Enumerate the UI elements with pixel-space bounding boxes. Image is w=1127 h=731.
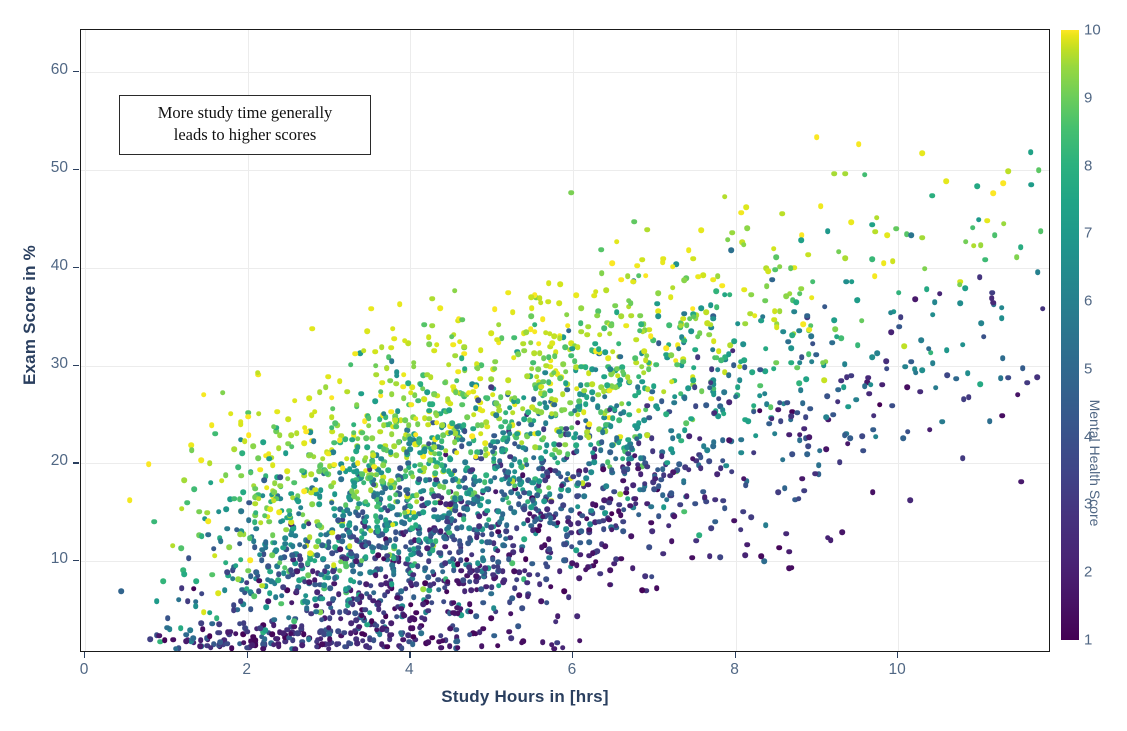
- scatter-point: [558, 493, 564, 499]
- scatter-point: [762, 391, 768, 397]
- scatter-point: [231, 446, 237, 452]
- scatter-point: [483, 420, 489, 426]
- scatter-point: [780, 457, 786, 463]
- scatter-point: [542, 392, 548, 398]
- scatter-point: [764, 283, 770, 289]
- scatter-point: [600, 429, 606, 435]
- scatter-point: [276, 509, 282, 515]
- scatter-point: [976, 217, 982, 223]
- scatter-point: [563, 442, 569, 448]
- scatter-point: [330, 550, 336, 556]
- scatter-point: [871, 427, 877, 433]
- scatter-point: [677, 502, 683, 508]
- scatter-point: [233, 563, 239, 569]
- scatter-point: [500, 512, 506, 518]
- scatter-point: [301, 440, 307, 446]
- scatter-point: [246, 432, 252, 438]
- scatter-point: [720, 498, 726, 504]
- scatter-point: [957, 300, 963, 306]
- scatter-point: [446, 362, 452, 368]
- scatter-point: [797, 437, 803, 443]
- scatter-point: [461, 505, 467, 511]
- scatter-point: [671, 514, 677, 520]
- scatter-point: [772, 431, 778, 437]
- scatter-point: [389, 581, 395, 587]
- scatter-point: [468, 609, 474, 615]
- scatter-point: [475, 498, 481, 504]
- scatter-point: [805, 452, 811, 458]
- scatter-point: [309, 412, 315, 418]
- scatter-point: [608, 423, 614, 429]
- scatter-point: [770, 277, 776, 283]
- scatter-point: [330, 406, 336, 412]
- scatter-point: [260, 646, 266, 652]
- scatter-point: [805, 444, 811, 450]
- scatter-point: [289, 600, 295, 606]
- scatter-point: [489, 377, 495, 383]
- scatter-point: [771, 366, 777, 372]
- scatter-point: [329, 414, 335, 420]
- scatter-point: [492, 633, 498, 639]
- scatter-point: [380, 619, 386, 625]
- scatter-point: [315, 589, 321, 595]
- scatter-point: [336, 591, 342, 597]
- scatter-point: [439, 422, 445, 428]
- scatter-point: [609, 527, 615, 533]
- scatter-point: [408, 602, 414, 608]
- scatter-point: [388, 620, 394, 626]
- scatter-point: [741, 242, 747, 248]
- scatter-point: [189, 447, 195, 453]
- scatter-point: [326, 575, 332, 581]
- scatter-point: [475, 560, 481, 566]
- scatter-point: [401, 612, 407, 618]
- scatter-point: [344, 389, 350, 395]
- scatter-point: [406, 422, 412, 428]
- scatter-point: [173, 646, 179, 652]
- scatter-point: [524, 462, 530, 468]
- scatter-point: [631, 219, 637, 225]
- scatter-point: [468, 449, 474, 455]
- scatter-point: [656, 341, 662, 347]
- scatter-point: [676, 462, 682, 468]
- scatter-point: [609, 371, 615, 377]
- scatter-point: [442, 544, 448, 550]
- scatter-point: [397, 485, 403, 491]
- scatter-point: [467, 569, 473, 575]
- scatter-point: [253, 510, 259, 516]
- scatter-point: [569, 190, 575, 196]
- scatter-point: [757, 383, 763, 389]
- scatter-point: [440, 638, 446, 644]
- scatter-point: [636, 273, 642, 279]
- scatter-point: [546, 380, 552, 386]
- scatter-point: [540, 316, 546, 322]
- scatter-point: [774, 324, 780, 330]
- scatter-point: [240, 451, 246, 457]
- scatter-point: [332, 420, 338, 426]
- scatter-point: [508, 636, 514, 642]
- scatter-point: [516, 593, 522, 599]
- scatter-point: [354, 558, 360, 564]
- scatter-point: [347, 511, 353, 517]
- scatter-point: [794, 410, 800, 416]
- scatter-point: [354, 489, 360, 495]
- scatter-point: [575, 504, 581, 510]
- scatter-point: [424, 546, 430, 552]
- scatter-point: [553, 619, 559, 625]
- scatter-point: [525, 593, 531, 599]
- scatter-point: [350, 534, 356, 540]
- scatter-point: [446, 511, 452, 517]
- scatter-point: [396, 477, 402, 483]
- x-tick-mark: [735, 652, 736, 658]
- scatter-point: [291, 624, 297, 630]
- scatter-point: [411, 514, 417, 520]
- scatter-point: [170, 543, 176, 549]
- scatter-point: [695, 274, 701, 280]
- scatter-point: [313, 487, 319, 493]
- scatter-point: [500, 437, 506, 443]
- y-tick-mark: [73, 169, 79, 170]
- scatter-point: [726, 372, 732, 378]
- scatter-point: [344, 556, 350, 562]
- scatter-point: [699, 388, 705, 394]
- scatter-point: [780, 329, 786, 335]
- scatter-point: [181, 478, 187, 484]
- colorbar[interactable]: 12345678910 Mental Health Score: [1061, 30, 1127, 642]
- scatter-point: [527, 490, 533, 496]
- scatter-point: [409, 563, 415, 569]
- scatter-point: [477, 630, 483, 636]
- scatter-point: [449, 334, 455, 340]
- scatter-point: [231, 608, 237, 614]
- scatter-point: [447, 456, 453, 462]
- scatter-point: [428, 374, 434, 380]
- scatter-point: [467, 535, 473, 541]
- scatter-point: [720, 438, 726, 444]
- scatter-point: [687, 316, 693, 322]
- scatter-point: [409, 525, 415, 531]
- scatter-point: [409, 402, 415, 408]
- scatter-point: [267, 506, 273, 512]
- scatter-point: [319, 572, 325, 578]
- scatter-point: [981, 334, 987, 340]
- scatter-point: [566, 595, 572, 601]
- scatter-point: [321, 582, 327, 588]
- scatter-point: [307, 396, 313, 402]
- scatter-point: [714, 289, 720, 295]
- scatter-point: [528, 295, 534, 301]
- scatter-point: [656, 314, 662, 320]
- scatter-point: [831, 412, 837, 418]
- scatter-point: [205, 518, 211, 524]
- scatter-point: [837, 459, 843, 465]
- scatter-point: [535, 572, 541, 578]
- scatter-point: [505, 290, 511, 296]
- scatter-point: [529, 561, 535, 567]
- scatter-point: [711, 339, 717, 345]
- scatter-point: [589, 508, 595, 514]
- scatter-point: [982, 257, 988, 263]
- scatter-point: [591, 293, 597, 299]
- scatter-point: [545, 564, 551, 570]
- scatter-point: [245, 629, 251, 635]
- scatter-point: [720, 458, 726, 464]
- scatter-point: [389, 632, 395, 638]
- scatter-point: [596, 346, 602, 352]
- scatter-point: [452, 353, 458, 359]
- scatter-point: [434, 342, 440, 348]
- scatter-point: [607, 331, 613, 337]
- scatter-point: [580, 513, 586, 519]
- scatter-point: [741, 357, 747, 363]
- scatter-point: [193, 604, 199, 610]
- scatter-point: [359, 613, 365, 619]
- scatter-point: [330, 609, 336, 615]
- scatter-point: [716, 348, 722, 354]
- scatter-point: [316, 539, 322, 545]
- scatter-point: [238, 599, 244, 605]
- scatter-point: [565, 431, 571, 437]
- scatter-point: [630, 279, 636, 285]
- scatter-point: [609, 511, 615, 517]
- scatter-point: [461, 516, 467, 522]
- scatter-point: [498, 395, 504, 401]
- scatter-point: [196, 509, 202, 515]
- scatter-point: [213, 431, 219, 437]
- scatter-point: [319, 628, 325, 634]
- scatter-point: [344, 456, 350, 462]
- scatter-point: [681, 478, 687, 484]
- scatter-point: [530, 498, 536, 504]
- scatter-point: [710, 347, 716, 353]
- scatter-point: [247, 536, 253, 542]
- scatter-point: [327, 586, 333, 592]
- scatter-point: [489, 524, 495, 530]
- scatter-plot-figure: More study time generally leads to highe…: [0, 0, 1127, 731]
- scatter-point: [666, 322, 672, 328]
- scatter-point: [306, 580, 312, 586]
- scatter-point: [823, 414, 829, 420]
- scatter-point: [419, 503, 425, 509]
- scatter-point: [459, 524, 465, 530]
- scatter-point: [403, 529, 409, 535]
- scatter-point: [327, 615, 333, 621]
- scatter-point: [1028, 149, 1034, 155]
- x-tick-label: 0: [80, 661, 89, 679]
- scatter-point: [1040, 306, 1046, 312]
- scatter-point: [415, 563, 421, 569]
- scatter-point: [560, 645, 566, 651]
- scatter-point: [425, 640, 431, 646]
- scatter-point: [538, 599, 544, 605]
- scatter-point: [522, 490, 528, 496]
- scatter-point: [459, 443, 465, 449]
- scatter-point: [727, 292, 733, 298]
- scatter-point: [957, 282, 963, 288]
- scatter-point: [363, 555, 369, 561]
- scatter-point: [493, 489, 499, 495]
- scatter-point: [782, 486, 788, 492]
- scatter-point: [343, 586, 349, 592]
- scatter-point: [605, 460, 611, 466]
- scatter-point: [926, 346, 932, 352]
- scatter-point: [698, 465, 704, 471]
- scatter-point: [552, 646, 558, 652]
- scatter-point: [335, 518, 341, 524]
- scatter-point: [411, 594, 417, 600]
- scatter-point: [507, 477, 513, 483]
- scatter-point: [426, 341, 432, 347]
- scatter-point: [507, 431, 513, 437]
- scatter-point: [277, 432, 283, 438]
- scatter-point: [808, 334, 814, 340]
- scatter-point: [353, 526, 359, 532]
- scatter-point: [628, 301, 634, 307]
- scatter-point: [490, 449, 496, 455]
- scatter-point: [489, 532, 495, 538]
- scatter-point: [836, 249, 842, 255]
- scatter-point: [253, 526, 259, 532]
- scatter-point: [421, 602, 427, 608]
- scatter-point: [350, 569, 356, 575]
- scatter-point: [432, 451, 438, 457]
- scatter-point: [431, 444, 437, 450]
- scatter-point: [329, 530, 335, 536]
- scatter-point: [1001, 221, 1007, 227]
- scatter-point: [670, 264, 676, 270]
- scatter-point: [201, 392, 207, 398]
- scatter-point: [697, 436, 703, 442]
- scatter-point: [581, 388, 587, 394]
- scatter-point: [558, 282, 564, 288]
- scatter-point: [900, 435, 906, 441]
- scatter-point: [807, 435, 813, 441]
- scatter-point: [390, 522, 396, 528]
- scatter-point: [543, 449, 549, 455]
- scatter-point: [643, 273, 649, 279]
- scatter-point: [1034, 375, 1040, 381]
- scatter-point: [553, 447, 559, 453]
- scatter-point: [586, 434, 592, 440]
- scatter-point: [902, 364, 908, 370]
- scatter-point: [272, 489, 278, 495]
- scatter-point: [500, 580, 506, 586]
- scatter-point: [165, 615, 171, 621]
- scatter-point: [348, 578, 354, 584]
- scatter-point: [536, 479, 542, 485]
- scatter-point: [199, 457, 205, 463]
- scatter-point: [579, 364, 585, 370]
- scatter-point: [667, 473, 673, 479]
- scatter-point: [310, 569, 316, 575]
- scatter-point: [505, 470, 511, 476]
- scatter-point: [542, 478, 548, 484]
- scatter-point: [752, 313, 758, 319]
- scatter-point: [529, 366, 535, 372]
- scatter-point: [389, 562, 395, 568]
- scatter-point: [549, 452, 555, 458]
- scatter-point: [594, 313, 600, 319]
- scatter-point: [528, 505, 534, 511]
- scatter-point: [539, 545, 545, 551]
- scatter-point: [614, 435, 620, 441]
- scatter-point: [491, 439, 497, 445]
- scatter-point: [621, 528, 627, 534]
- scatter-point: [447, 408, 453, 414]
- scatter-point: [629, 445, 635, 451]
- scatter-point: [223, 506, 229, 512]
- scatter-point: [357, 580, 363, 586]
- scatter-point: [528, 340, 534, 346]
- scatter-point: [308, 471, 314, 477]
- scatter-point: [742, 364, 748, 370]
- scatter-point: [531, 396, 537, 402]
- scatter-point: [282, 541, 288, 547]
- scatter-point: [430, 569, 436, 575]
- scatter-point: [738, 450, 744, 456]
- scatter-point: [511, 509, 517, 515]
- scatter-point: [591, 459, 597, 465]
- scatter-point: [729, 230, 735, 236]
- scatter-point: [382, 505, 388, 511]
- scatter-point: [486, 517, 492, 523]
- scatter-point: [856, 142, 862, 148]
- scatter-point: [245, 414, 251, 420]
- scatter-point: [179, 506, 185, 512]
- scatter-point: [280, 630, 286, 636]
- scatter-point: [408, 581, 414, 587]
- scatter-point: [607, 449, 613, 455]
- scatter-point: [478, 431, 484, 437]
- scatter-point: [391, 443, 397, 449]
- scatter-point: [403, 586, 409, 592]
- scatter-point: [578, 320, 584, 326]
- scatter-point: [919, 235, 925, 241]
- scatter-point: [282, 565, 288, 571]
- scatter-point: [817, 448, 823, 454]
- scatter-point: [539, 384, 545, 390]
- scatter-point: [832, 327, 838, 333]
- scatter-point: [338, 616, 344, 622]
- scatter-point: [912, 296, 918, 302]
- scatter-point: [855, 342, 861, 348]
- scatter-point: [576, 472, 582, 478]
- y-tick-label: 30: [51, 355, 68, 373]
- scatter-point: [453, 389, 459, 395]
- scatter-point: [422, 446, 428, 452]
- colorbar-title: Mental Health Score: [1087, 343, 1103, 583]
- scatter-point: [524, 329, 530, 335]
- scatter-point: [655, 291, 661, 297]
- scatter-point: [423, 565, 429, 571]
- scatter-point: [391, 568, 397, 574]
- scatter-point: [419, 496, 425, 502]
- scatter-point: [757, 393, 763, 399]
- scatter-point: [937, 291, 943, 297]
- scatter-point: [464, 414, 470, 420]
- scatter-point: [233, 631, 239, 637]
- scatter-point: [646, 415, 652, 421]
- scatter-point: [398, 588, 404, 594]
- scatter-point: [455, 578, 461, 584]
- scatter-point: [401, 372, 407, 378]
- scatter-point: [548, 499, 554, 505]
- scatter-point: [257, 552, 263, 558]
- y-tick-label: 50: [51, 159, 68, 177]
- scatter-point: [422, 322, 428, 328]
